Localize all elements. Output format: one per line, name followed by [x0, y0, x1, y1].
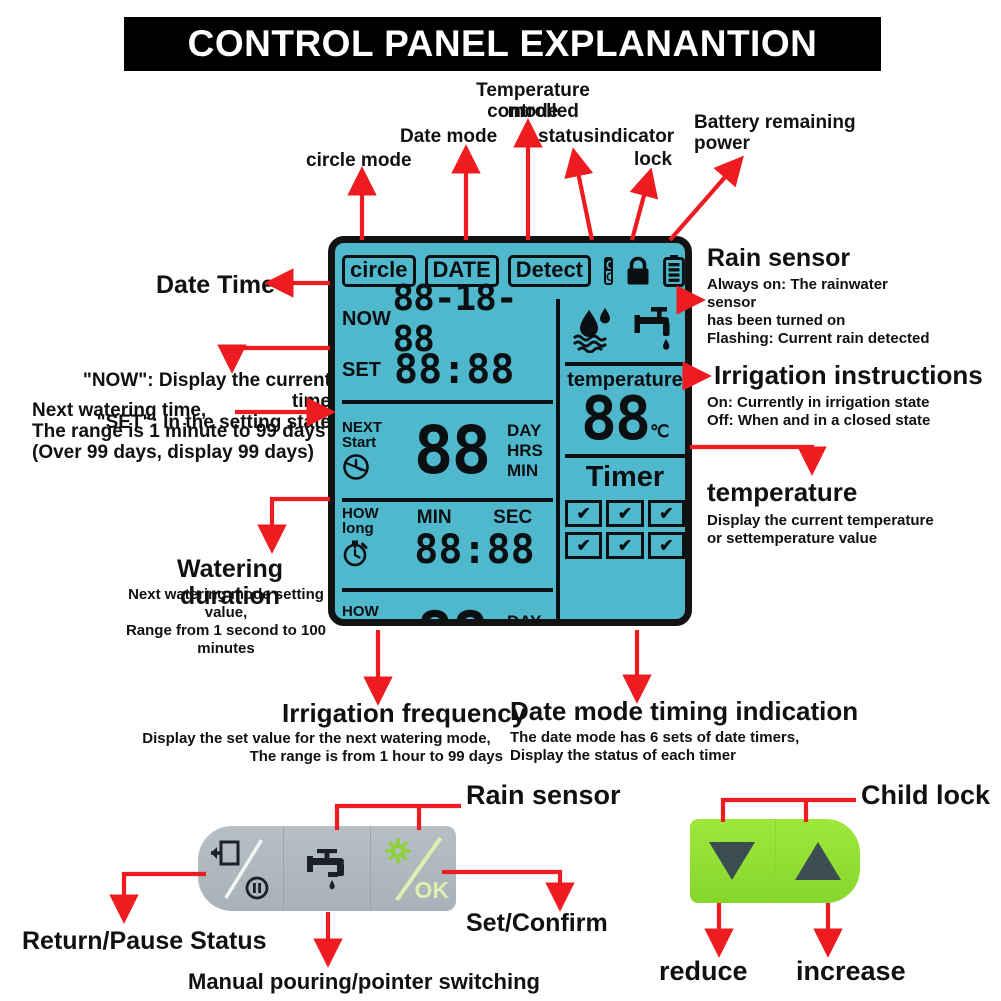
callout-irrigation-frequency-line2: The range is from 1 hour to 99 days — [130, 748, 503, 766]
lcd-divider-2 — [342, 498, 553, 502]
lcd-how-long-label-group: HOW long — [342, 507, 396, 567]
lcd-start-label: Start — [342, 435, 376, 450]
lcd-now-row: NOW 88-18-88 — [342, 295, 553, 343]
arrow-watering-duration — [272, 499, 330, 548]
arrow-lock — [632, 173, 650, 240]
lcd-right-divider-1 — [565, 362, 685, 366]
triangle-up-icon — [793, 840, 843, 882]
lcd-vertical-divider — [556, 299, 560, 621]
arrow-temperature — [690, 447, 812, 470]
lcd-timer-label: Timer — [565, 461, 685, 494]
callout-next-water-line2: The range is 1 minute to 99 days — [32, 421, 330, 442]
lcd-how-label: HOW — [342, 507, 379, 521]
callout-temperature-line1: Display the current temperature — [707, 512, 997, 530]
lcd-unit-day: DAY — [507, 421, 541, 441]
faucet-icon — [633, 305, 679, 353]
lcd-unit-hrs: HRS — [507, 441, 543, 461]
manual-pouring-button[interactable] — [284, 826, 370, 911]
callout-increase: increase — [796, 958, 906, 985]
callout-watering-duration-line2: Range from 1 second to 100 minutes — [122, 622, 330, 658]
lcd-how-often-unit-day: DAY — [507, 609, 541, 626]
lcd-right-column: temperature 88 ℃ Timer ✔ ✔ ✔ ✔ ✔ ✔ — [565, 295, 685, 613]
callout-date-mode-timing-line2: Display the status of each timer — [510, 747, 830, 765]
lcd-temperature-value-group: 88 ℃ — [565, 390, 685, 448]
callout-battery-line1: Battery remaining — [694, 112, 856, 133]
callout-rain-sensor-heading: Rain sensor — [707, 245, 850, 272]
control-button-pad-right — [690, 819, 860, 903]
callout-circle-mode: circle mode — [306, 150, 412, 171]
callout-rain-sensor-line4: Flashing: Current rain detected — [707, 330, 992, 348]
callout-reduce: reduce — [659, 958, 748, 985]
timer-checkbox-4: ✔ — [565, 532, 602, 559]
lcd-left-column: NOW 88-18-88 SET 88:88 NEXT Start — [342, 295, 553, 613]
lcd-unit-min: MIN — [507, 461, 538, 481]
stopwatch-icon — [342, 539, 370, 567]
callout-rain-sensor-button: Rain sensor — [466, 782, 621, 809]
lcd-next-start-units: DAY HRS MIN — [507, 421, 553, 481]
lcd-right-divider-2 — [565, 454, 685, 458]
callout-rain-sensor-line3: has been turned on — [707, 312, 992, 330]
set-confirm-button[interactable]: OK — [371, 826, 456, 911]
callout-date-mode-timing-heading: Date mode timing indication — [510, 698, 858, 725]
pause-icon — [245, 876, 269, 900]
lcd-sensor-icon-row — [565, 295, 685, 359]
callout-temp-mode-line2: mode — [428, 101, 638, 122]
callout-rain-sensor-line2: sensor — [707, 294, 992, 312]
lcd-how-long-units: MIN SEC — [396, 507, 553, 529]
lcd-temperature-value: 88 — [581, 390, 649, 448]
callout-irrigation-instructions-line2: Off: When and in a closed state — [707, 412, 997, 430]
callout-set-confirm: Set/Confirm — [466, 910, 608, 937]
lcd-how-often-label-group: HOW often — [342, 605, 396, 626]
faucet-icon — [304, 845, 350, 893]
increase-button[interactable] — [776, 819, 861, 903]
callout-irrigation-instructions-line1: On: Currently in irrigation state — [707, 394, 997, 412]
callout-status-indicator: statusindicator — [538, 126, 674, 147]
control-button-pad-left: OK — [198, 826, 456, 911]
callout-lock: lock — [634, 149, 672, 170]
lcd-how-long-value: 88:88 — [396, 527, 553, 573]
lcd-how-often-row: HOW often 88 DAY HRS — [342, 595, 553, 626]
ok-label: OK — [414, 877, 449, 904]
exit-icon — [210, 840, 240, 866]
lcd-unit-min-label: MIN — [417, 507, 452, 529]
arrow-set-confirm — [442, 872, 560, 906]
lcd-onoff-status-indicator: ON OFF — [604, 257, 613, 285]
timer-checkbox-6: ✔ — [648, 532, 685, 559]
gear-icon — [385, 838, 411, 864]
lcd-temperature-unit: ℃ — [650, 422, 669, 442]
lcd-how-long-value-group: MIN SEC 88:88 — [396, 507, 553, 573]
lcd-next-start-value: 88 — [396, 418, 507, 484]
triangle-down-icon — [707, 840, 757, 882]
lcd-now-label: NOW — [342, 308, 392, 331]
lcd-set-label: SET — [342, 359, 394, 382]
callout-temperature-line2: or settemperature value — [707, 530, 997, 548]
callout-irrigation-frequency-heading: Irrigation frequency — [282, 700, 526, 727]
lcd-long-label: long — [342, 521, 374, 536]
callout-date-time: Date Time — [156, 272, 275, 299]
lcd-onoff-off-label: OFF — [606, 271, 611, 283]
lcd-how-often-units: DAY HRS — [507, 609, 553, 626]
arrow-battery — [670, 160, 740, 240]
lcd-divider-3 — [342, 588, 553, 592]
callout-date-mode-timing-line1: The date mode has 6 sets of date timers, — [510, 729, 830, 747]
lcd-how-often-how-label: HOW — [342, 605, 379, 619]
timer-checkbox-1: ✔ — [565, 500, 602, 527]
clock-icon — [342, 453, 370, 481]
lcd-how-often-value: 88 — [396, 604, 507, 626]
callout-rain-sensor-line1: Always on: The rainwater — [707, 276, 992, 294]
timer-checkbox-3: ✔ — [648, 500, 685, 527]
reduce-button[interactable] — [690, 819, 776, 903]
timer-checkbox-5: ✔ — [606, 532, 643, 559]
water-drop-waves-icon — [572, 305, 620, 353]
callout-date-mode: Date mode — [400, 126, 497, 147]
arrow-now-set — [232, 348, 330, 368]
lcd-next-start-label-group: NEXT Start — [342, 421, 396, 481]
timer-checkbox-2: ✔ — [606, 500, 643, 527]
callout-irrigation-frequency-line1: Display the set value for the next water… — [130, 730, 503, 748]
page-title-bar: CONTROL PANEL EXPLANANTION — [124, 17, 881, 71]
lcd-set-value: 88:88 — [394, 347, 514, 393]
return-pause-button[interactable] — [198, 826, 284, 911]
lcd-unit-sec-label: SEC — [493, 507, 532, 529]
callout-next-water-line1: Next watering time, — [32, 400, 330, 421]
callout-return-pause: Return/Pause Status — [22, 928, 267, 955]
lcd-next-label: NEXT — [342, 421, 382, 435]
lock-icon — [625, 256, 651, 286]
lcd-how-often-often-label: often — [342, 619, 379, 626]
arrow-return-pause — [124, 874, 206, 918]
callout-watering-duration-line1: Next watering mode setting value, — [122, 586, 330, 622]
lcd-next-start-row: NEXT Start 88 DAY HRS MIN — [342, 407, 553, 495]
callout-temperature-heading: temperature — [707, 479, 857, 506]
lcd-timer-checkbox-grid: ✔ ✔ ✔ ✔ ✔ ✔ — [565, 500, 685, 559]
callout-child-lock: Child lock — [861, 782, 990, 809]
battery-icon — [663, 255, 685, 287]
lcd-display: circle DATE Detect ON OFF — [328, 236, 692, 626]
arrow-status-indicator — [574, 153, 592, 240]
callout-irrigation-instructions-heading: Irrigation instructions — [714, 362, 983, 389]
lcd-divider-1 — [342, 400, 553, 404]
callout-next-water-line3: (Over 99 days, display 99 days) — [32, 442, 330, 463]
callout-battery-line2: power — [694, 133, 750, 154]
page-title: CONTROL PANEL EXPLANANTION — [188, 23, 818, 65]
callout-manual-pouring: Manual pouring/pointer switching — [188, 968, 540, 995]
lcd-how-long-row: HOW long MIN SEC 88:88 — [342, 505, 553, 585]
